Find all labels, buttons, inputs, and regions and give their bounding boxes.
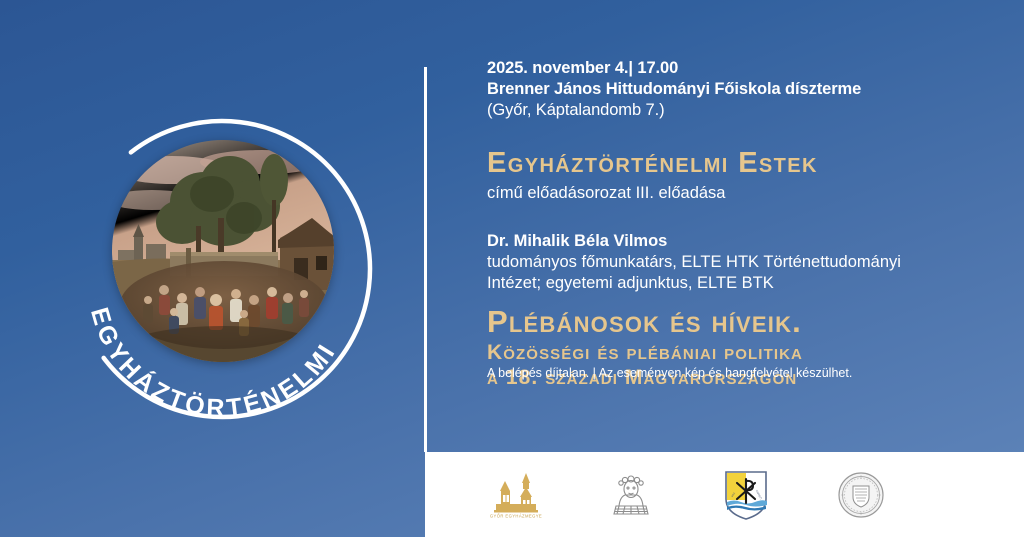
- speaker-affiliation-line1: tudományos főmunkatárs, ELTE HTK Történe…: [487, 252, 987, 273]
- event-venue: Brenner János Hittudományi Főiskola dísz…: [487, 79, 987, 100]
- sponsor-logo-band: GYŐR EGYHÁZMEGYE: [425, 452, 1024, 537]
- event-address: (Győr, Káptalandomb 7.): [487, 100, 987, 121]
- series-title: Egyháztörténelmi Estek: [487, 147, 987, 180]
- gyor-egyhazmegye-logo: GYŐR EGYHÁZMEGYE: [487, 468, 545, 522]
- lecture-title-line2: Közösségi és plébániai politika: [487, 340, 987, 365]
- series-emblem: EGYHÁZTÖRTÉNELMI ESTEK: [57, 104, 387, 434]
- event-datetime: 2025. november 4.| 17.00: [487, 58, 987, 79]
- series-block: Egyháztörténelmi Estek című előadásoroza…: [487, 147, 987, 204]
- poster-root: EGYHÁZTÖRTÉNELMI ESTEK: [0, 0, 1024, 537]
- speaker-block: Dr. Mihalik Béla Vilmos tudományos főmun…: [487, 230, 987, 294]
- admission-notice: A belépés díjtalan. | Az eseményen kép é…: [487, 365, 852, 381]
- gyor-logo-caption: GYŐR EGYHÁZMEGYE: [490, 513, 542, 518]
- pax-christi-cimer-logo: PAX CHRISTI: [717, 468, 775, 522]
- emblem-painting: [112, 140, 334, 362]
- content-stack: 2025. november 4.| 17.00 Brenner János H…: [487, 58, 987, 390]
- egyetemi-pecset-logo: [832, 468, 890, 522]
- speaker-affiliation-line2: Intézet; egyetemi adjunktus, ELTE BTK: [487, 273, 987, 294]
- series-subtitle: című előadásorozat III. előadása: [487, 182, 987, 204]
- speaker-name: Dr. Mihalik Béla Vilmos: [487, 230, 987, 252]
- lecture-title-line1: Plébánosok és híveik.: [487, 304, 987, 340]
- emblem-panel: EGYHÁZTÖRTÉNELMI ESTEK: [0, 0, 425, 537]
- szobor-emblem-logo: [602, 468, 660, 522]
